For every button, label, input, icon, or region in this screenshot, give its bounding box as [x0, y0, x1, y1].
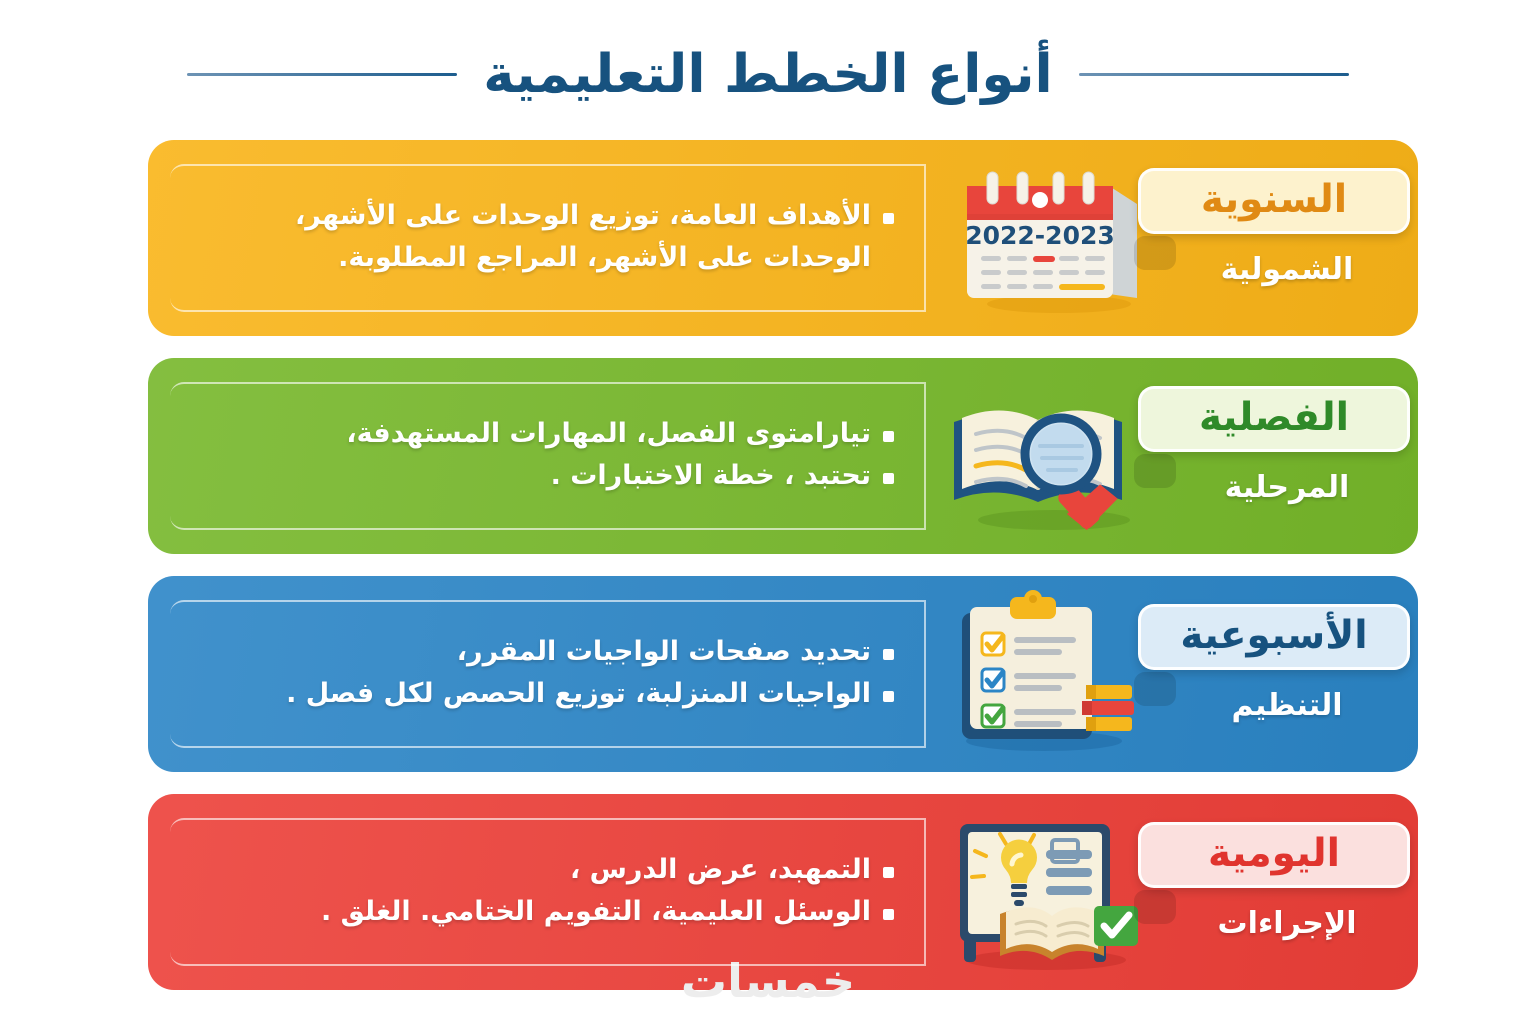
chip-daily[interactable]: اليومية	[1138, 822, 1410, 888]
bullet-text: الواجيات المنزلبة، توزيع الحصص لكل فصل .	[170, 673, 871, 715]
bullet-item: الوسئل العليمية، التفويم الختامي. الغلق …	[170, 891, 894, 933]
chip-label-annual: السنوية	[1201, 180, 1347, 223]
open-book-magnifier-icon	[936, 376, 1146, 536]
label-column-annual: السنوية الشمولية	[1156, 140, 1418, 336]
bullet-text: الوسئل العليمية، التفويم الختامي. الغلق …	[170, 891, 871, 933]
bullet-text: تيارامتوى الفصل، المهارات المستهدفة،	[170, 413, 871, 455]
bullet-dot-icon	[883, 867, 894, 878]
text-column-daily: التمهبد، عرض الدرس ، الوسئل العليمية، ال…	[148, 794, 926, 990]
calendar-year-label: 2022-2023	[965, 221, 1115, 250]
bullet-list-daily: التمهبد، عرض الدرس ، الوسئل العليمية، ال…	[170, 849, 894, 933]
icon-column-annual: 2022-2023	[926, 140, 1156, 336]
bullet-dot-icon	[883, 473, 894, 484]
bullet-item: الواجيات المنزلبة، توزيع الحصص لكل فصل .	[170, 673, 894, 715]
text-frame-semester: تيارامتوى الفصل، المهارات المستهدفة، تحت…	[170, 382, 926, 530]
calendar-icon: 2022-2023	[941, 158, 1141, 318]
bullet-dot-icon	[883, 431, 894, 442]
sublabel-weekly: التنظيم	[1156, 688, 1418, 723]
plan-type-list: السنوية الشمولية 2022-2023	[0, 140, 1536, 990]
title-rule-right	[1079, 73, 1349, 76]
chip-tab-annual	[1134, 236, 1176, 270]
text-column-semester: تيارامتوى الفصل، المهارات المستهدفة، تحت…	[148, 358, 926, 554]
icon-column-semester	[926, 358, 1156, 554]
whiteboard-lightbulb-book-icon	[934, 810, 1149, 975]
bullet-dot-icon	[883, 213, 894, 224]
plan-row-daily[interactable]: اليومية الإجراءات	[148, 794, 1418, 990]
text-frame-annual: الأهداف العامة، توزيع الوحدات على الأشهر…	[170, 164, 926, 312]
label-column-semester: الفصلية المرحلية	[1156, 358, 1418, 554]
bullet-text: الوحدات على الأشهر، المراجع المطلوبة.	[170, 237, 871, 279]
text-frame-daily: التمهبد، عرض الدرس ، الوسئل العليمية، ال…	[170, 818, 926, 966]
icon-column-daily	[926, 794, 1156, 990]
clipboard-checklist-icon	[936, 589, 1146, 759]
bullet-dot-icon	[883, 649, 894, 660]
chip-tab-weekly	[1134, 672, 1176, 706]
bullet-list-weekly: تحديد صفحات الواجيات المقرر، الواجيات ال…	[170, 631, 894, 715]
bullet-list-semester: تيارامتوى الفصل، المهارات المستهدفة، تحت…	[170, 413, 894, 497]
bullet-text: تحتبد ، خطة الاختبارات .	[170, 455, 871, 497]
chip-weekly[interactable]: الأسبوعية	[1138, 604, 1410, 670]
text-column-weekly: تحديد صفحات الواجيات المقرر، الواجيات ال…	[148, 576, 926, 772]
text-column-annual: الأهداف العامة، توزيع الوحدات على الأشهر…	[148, 140, 926, 336]
sublabel-annual: الشمولية	[1156, 252, 1418, 287]
chip-semester[interactable]: الفصلية	[1138, 386, 1410, 452]
icon-column-weekly	[926, 576, 1156, 772]
sublabel-daily: الإجراءات	[1156, 906, 1418, 941]
chip-label-weekly: الأسبوعية	[1180, 616, 1367, 659]
text-frame-weekly: تحديد صفحات الواجيات المقرر، الواجيات ال…	[170, 600, 926, 748]
bullet-dot-icon	[883, 691, 894, 702]
bullet-text: تحديد صفحات الواجيات المقرر،	[170, 631, 871, 673]
label-column-weekly: الأسبوعية التنظيم	[1156, 576, 1418, 772]
bullet-item: تحتبد ، خطة الاختبارات .	[170, 455, 894, 497]
bullet-dot-icon	[883, 909, 894, 920]
sublabel-semester: المرحلية	[1156, 470, 1418, 505]
chip-label-daily: اليومية	[1208, 834, 1340, 877]
bullet-text: التمهبد، عرض الدرس ،	[170, 849, 871, 891]
chip-label-semester: الفصلية	[1199, 398, 1349, 441]
bullet-list-annual: الأهداف العامة، توزيع الوحدات على الأشهر…	[170, 195, 894, 279]
bullet-item: التمهبد، عرض الدرس ،	[170, 849, 894, 891]
plan-row-weekly[interactable]: الأسبوعية التنظيم	[148, 576, 1418, 772]
plan-row-annual[interactable]: السنوية الشمولية 2022-2023	[148, 140, 1418, 336]
chip-tab-daily	[1134, 890, 1176, 924]
bullet-item: الأهداف العامة، توزيع الوحدات على الأشهر…	[170, 195, 894, 237]
bullet-item: تحديد صفحات الواجيات المقرر،	[170, 631, 894, 673]
plan-row-semester[interactable]: الفصلية المرحلية	[148, 358, 1418, 554]
label-column-daily: اليومية الإجراءات	[1156, 794, 1418, 990]
title-rule-left	[187, 73, 457, 76]
chip-tab-semester	[1134, 454, 1176, 488]
bullet-item: تيارامتوى الفصل، المهارات المستهدفة،	[170, 413, 894, 455]
page-title: أنواع الخطط التعليمية	[483, 48, 1052, 101]
bullet-text: الأهداف العامة، توزيع الوحدات على الأشهر…	[170, 195, 871, 237]
page-header: أنواع الخطط التعليمية	[0, 0, 1536, 140]
bullet-item: الوحدات على الأشهر، المراجع المطلوبة.	[170, 237, 894, 279]
chip-annual[interactable]: السنوية	[1138, 168, 1410, 234]
